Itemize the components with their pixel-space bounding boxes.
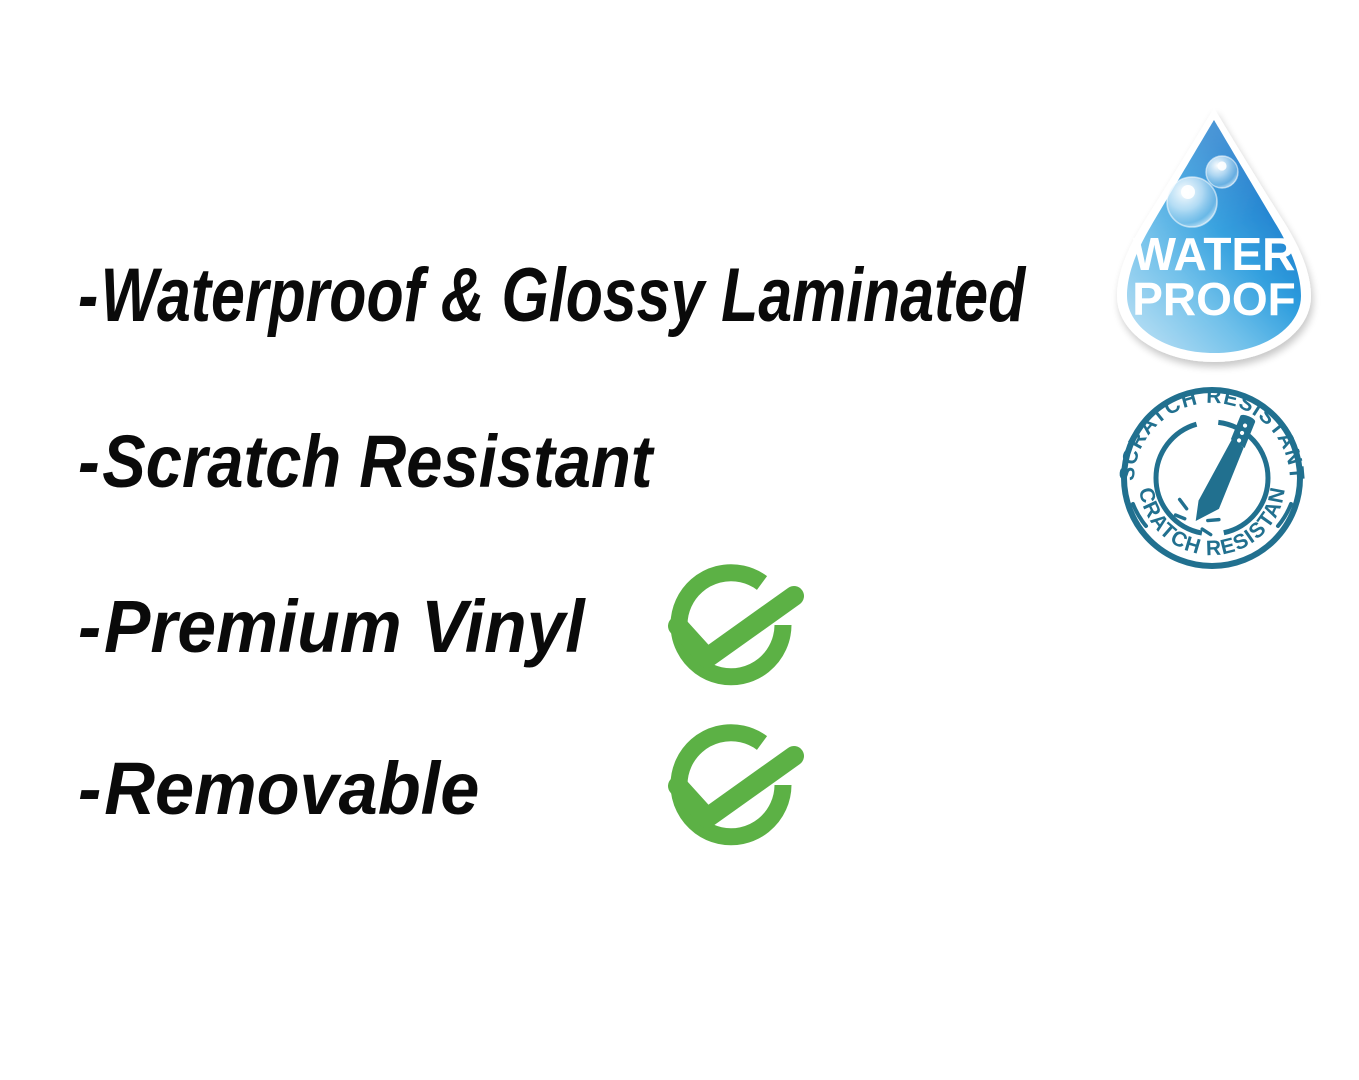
feature-item-waterproof: -Waterproof & Glossy Laminated xyxy=(78,258,1025,334)
feature-list: -Waterproof & Glossy Laminated -Scratch … xyxy=(0,0,1100,1080)
feature-label: Premium Vinyl xyxy=(104,585,585,668)
water-drop-icon: WATER PROOF xyxy=(1104,104,1324,366)
feature-dash: - xyxy=(78,425,100,499)
bubble-large-icon xyxy=(1167,177,1217,227)
check-mark-removable xyxy=(634,718,834,868)
waterproof-badge: WATER PROOF xyxy=(1104,104,1324,366)
bubble-large-highlight xyxy=(1181,185,1195,199)
waterproof-text-line2: PROOF xyxy=(1132,273,1296,325)
bubble-small-highlight xyxy=(1217,161,1226,170)
bubble-small-icon xyxy=(1206,156,1238,188)
feature-dash: - xyxy=(78,752,101,826)
product-feature-graphic: -Waterproof & Glossy Laminated -Scratch … xyxy=(0,0,1359,1080)
feature-item-removable: -Removable xyxy=(78,752,479,826)
scratch-resistant-badge: SCRATCH RESISTANT SCRATCH RESISTANT xyxy=(1112,386,1312,570)
feature-label: Scratch Resistant xyxy=(102,420,652,503)
feature-item-premium-vinyl: -Premium Vinyl xyxy=(78,590,585,664)
feature-dash: - xyxy=(78,590,101,664)
feature-label: Waterproof & Glossy Laminated xyxy=(101,253,1026,338)
feature-item-scratch-resistant: -Scratch Resistant xyxy=(78,425,652,499)
feature-dash: - xyxy=(78,258,98,334)
check-mark-premium-vinyl xyxy=(634,558,834,708)
scratch-resistant-seal-icon: SCRATCH RESISTANT SCRATCH RESISTANT xyxy=(1112,386,1312,570)
feature-label: Removable xyxy=(104,747,479,830)
seal-text-top: SCRATCH RESISTANT xyxy=(1116,385,1309,482)
check-circle-icon xyxy=(634,718,834,868)
knife-icon xyxy=(1172,404,1259,535)
knife-blade xyxy=(1191,436,1245,528)
check-circle-icon xyxy=(634,558,834,708)
